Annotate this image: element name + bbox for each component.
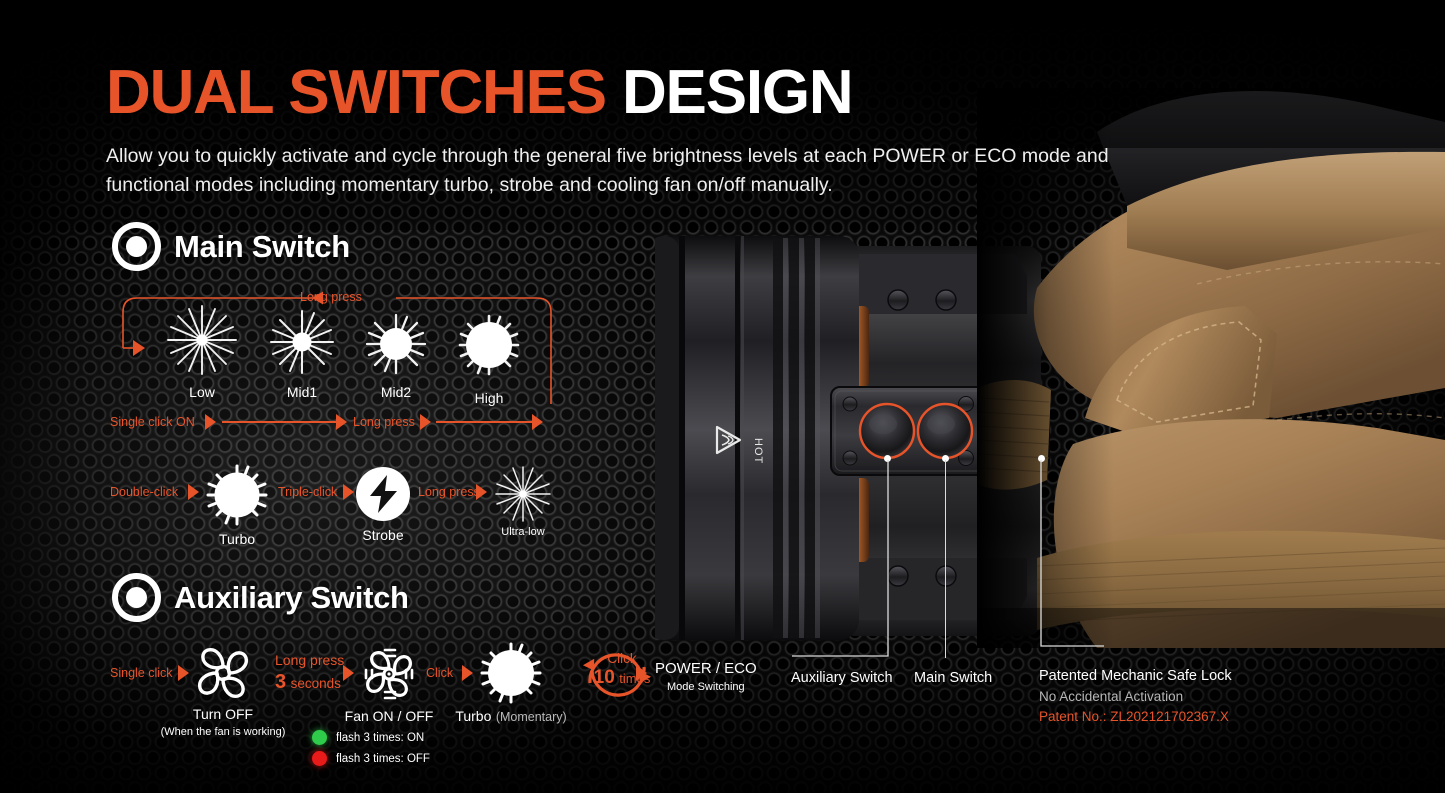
aux-step-label: POWER / ECO [655, 660, 757, 677]
sunburst-icon [162, 300, 242, 380]
fan-spinning-icon [357, 642, 421, 706]
sunburst-icon [202, 460, 272, 530]
cycle-number: 10 [594, 667, 615, 688]
callout-line-main [945, 460, 946, 658]
aux-step-power-eco-cycle: Click 10 times [572, 639, 662, 711]
main-switch-steps-row: Single click ON Long press [110, 412, 570, 434]
arrow-right-icon [178, 665, 189, 681]
auxiliary-switch-steps-row: Single click Turn OFF (When the fan is w… [110, 636, 770, 766]
brightness-level-high: High [448, 304, 530, 386]
auxiliary-switch-heading: Auxiliary Switch [112, 573, 409, 622]
callout-label-main-switch: Main Switch [914, 670, 992, 686]
arrow-right-icon [532, 414, 543, 430]
aux-power-eco-caption: POWER / ECO Mode Switching [655, 660, 757, 693]
lightning-bolt-icon [354, 465, 412, 523]
page-title: DUAL SWITCHES DESIGN [106, 62, 852, 124]
brightness-level-low: Low [162, 300, 242, 380]
special-mode-label: Ultra-low [443, 526, 603, 538]
sunburst-icon [448, 304, 530, 386]
arrow-right-icon [205, 414, 216, 430]
svg-text:HOT: HOT [752, 438, 764, 464]
sunburst-icon [358, 306, 434, 382]
callout-line-safe-lock [1038, 458, 1108, 658]
aux-step-action: Single click [110, 666, 173, 680]
fan-icon [192, 642, 254, 704]
aux-step-label: Turbo [455, 708, 491, 724]
special-mode-strobe: Strobe [354, 465, 412, 523]
sunburst-icon [476, 638, 546, 708]
main-switch-heading: Main Switch [112, 222, 350, 271]
step-label: Single click ON [110, 415, 195, 429]
step-label: Long press [353, 415, 415, 429]
arrow-right-icon [343, 484, 354, 500]
callout-sub-safe-lock: No Accidental Activation [1039, 689, 1232, 704]
aux-step-turbo: Turbo (Momentary) [476, 638, 546, 708]
brightness-level-mid2: Mid2 [358, 306, 434, 382]
promo-canvas: HOT [0, 0, 1445, 793]
callout-label-safe-lock: Patented Mechanic Safe Lock [1039, 668, 1232, 684]
fan-led-legend: flash 3 times: ON flash 3 times: OFF [312, 730, 430, 766]
aux-step-label: Turn OFF [143, 706, 303, 722]
auxiliary-switch-title: Auxiliary Switch [174, 580, 409, 616]
aux-action-line1: Long press [275, 652, 344, 668]
brightness-level-mid1: Mid1 [264, 304, 340, 380]
led-red-icon [312, 751, 327, 766]
aux-step-turn-off: Turn OFF (When the fan is working) [192, 642, 254, 704]
aux-step-note: (When the fan is working) [123, 726, 323, 738]
special-mode-action: Double-click [110, 485, 178, 499]
aux-step-action-longpress: Long press 3 seconds [275, 652, 344, 694]
arrow-line [436, 421, 536, 423]
arrow-right-icon [476, 484, 487, 500]
brightness-label: High [409, 390, 569, 406]
aux-action-line2: seconds [291, 676, 341, 691]
led-row: flash 3 times: OFF [312, 751, 430, 766]
special-mode-turbo: Turbo [202, 460, 272, 530]
sunburst-icon [264, 304, 340, 380]
special-mode-action: Long press [418, 485, 480, 499]
arrow-right-icon [462, 665, 473, 681]
led-label: flash 3 times: ON [336, 732, 424, 744]
subtitle-paragraph: Allow you to quickly activate and cycle … [106, 142, 1136, 200]
arrow-right-icon [636, 665, 647, 681]
aux-step-action: Click [426, 666, 453, 680]
aux-action-number: 3 [275, 671, 286, 693]
callout-block-safe-lock: Patented Mechanic Safe Lock No Accidenta… [1039, 668, 1232, 724]
arrow-right-icon [343, 665, 354, 681]
arrow-right-icon [336, 414, 347, 430]
main-switch-special-modes-row: Double-click Turbo Triple-click [110, 455, 580, 550]
product-auxiliary-switch[interactable] [860, 404, 914, 458]
aux-step-sublabel: Mode Switching [655, 681, 757, 693]
brightness-levels-row: Low Mid1 [104, 300, 574, 410]
callout-label-auxiliary-switch: Auxiliary Switch [791, 670, 893, 686]
led-green-icon [312, 730, 327, 745]
product-main-switch[interactable] [918, 404, 972, 458]
main-switch-title: Main Switch [174, 229, 350, 265]
arrow-right-icon [188, 484, 199, 500]
sunburst-icon [492, 463, 554, 525]
callout-line-auxiliary [790, 458, 900, 668]
led-label: flash 3 times: OFF [336, 753, 430, 765]
aux-step-note: (Momentary) [496, 710, 567, 724]
special-mode-action: Triple-click [278, 485, 337, 499]
switch-ring-icon [112, 573, 161, 622]
headline-accent: DUAL SWITCHES [106, 58, 606, 127]
switch-ring-icon [112, 222, 161, 271]
arrow-right-icon [420, 414, 431, 430]
callout-patent-number: Patent No.: ZL202121702367.X [1039, 709, 1232, 724]
special-mode-label: Turbo [157, 531, 317, 547]
special-mode-ultra-low: Ultra-low [492, 463, 554, 525]
arrow-line [222, 421, 340, 423]
cycle-line1: Click [592, 651, 652, 666]
special-mode-label: Strobe [303, 527, 463, 543]
led-row: flash 3 times: ON [312, 730, 430, 745]
headline-plain: DESIGN [622, 58, 853, 127]
aux-step-fan-on-off: Fan ON / OFF [357, 642, 421, 706]
